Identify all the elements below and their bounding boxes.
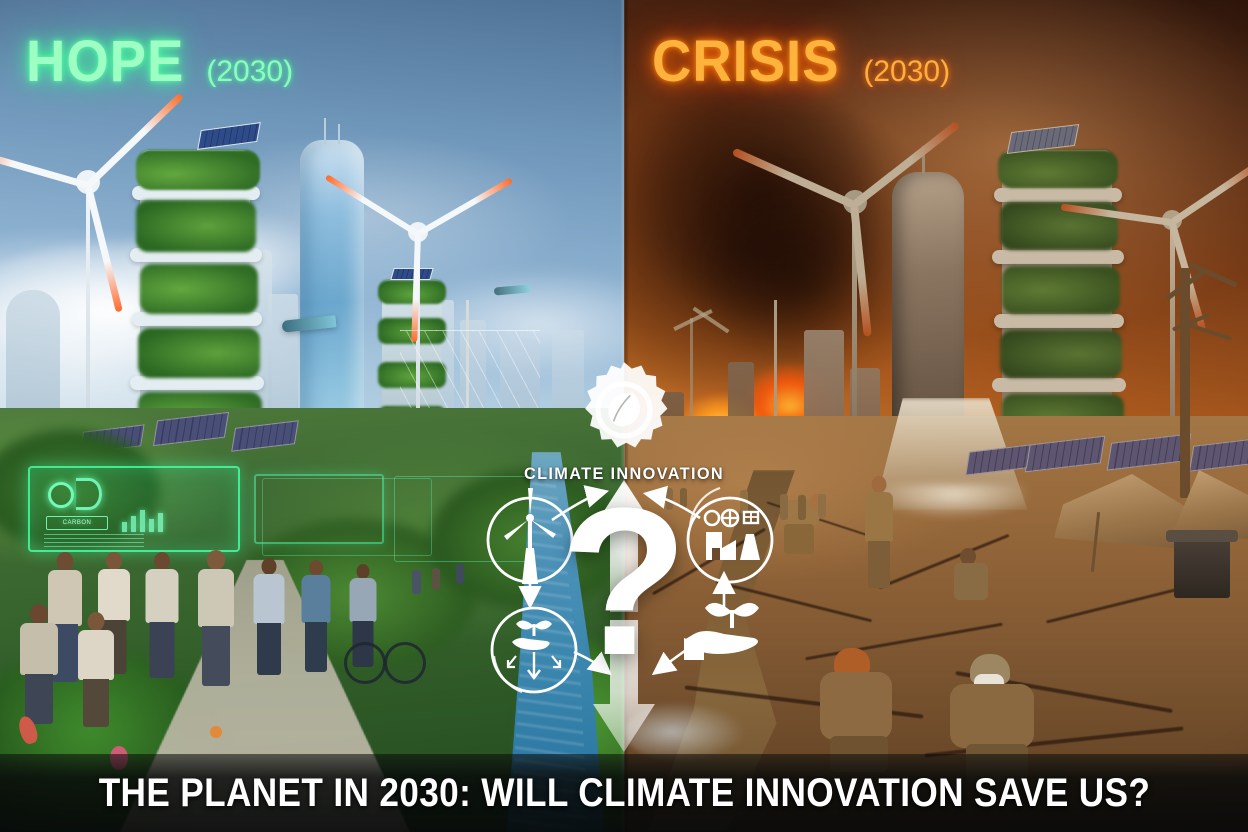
wind-turbine-mast — [86, 176, 90, 426]
hope-label-text: HOPE — [26, 28, 184, 95]
tower-balcony — [992, 378, 1126, 392]
dead-tree-trunk — [1180, 268, 1190, 498]
person — [76, 612, 116, 728]
antenna — [324, 118, 326, 144]
tower-balcony — [994, 314, 1124, 328]
holo-chip-label: CARBON — [46, 516, 108, 530]
person — [300, 560, 332, 672]
holo-bar-chart — [122, 508, 163, 532]
hope-label: HOPE (2030) — [26, 28, 293, 95]
flower — [210, 726, 222, 738]
poster-canvas: CARBON — [0, 0, 1248, 832]
person — [196, 550, 236, 686]
bicycle-wheel — [384, 642, 426, 684]
barrel-stove — [1174, 536, 1230, 598]
rooftop-greenery — [136, 150, 260, 190]
dying-greenery — [1000, 330, 1122, 378]
distant-person — [818, 494, 826, 518]
rooftop-solar-panel — [390, 268, 433, 280]
holo-ring-icon — [48, 482, 74, 508]
person — [252, 558, 286, 676]
person — [144, 552, 180, 678]
question-mark: ? — [560, 500, 688, 664]
hope-label-year: (2030) — [206, 55, 293, 89]
distant-person — [412, 570, 421, 594]
tower-greenery — [140, 264, 258, 314]
climate-innovation-badge[interactable]: CLIMATE INNOVATION — [444, 358, 804, 484]
person-sitting — [954, 548, 988, 600]
tower-greenery — [138, 328, 260, 378]
dying-rooftop-greenery — [998, 150, 1118, 188]
antenna — [338, 124, 340, 144]
distant-person — [798, 495, 806, 520]
tower-greenery — [136, 200, 256, 252]
distant-person — [780, 494, 788, 520]
distant-person — [740, 490, 748, 514]
holo-text-lines — [44, 534, 144, 548]
crisis-label: CRISIS (2030) — [652, 28, 950, 95]
tower-balcony — [132, 312, 262, 326]
bicycle-wheel — [344, 642, 386, 684]
stove-top — [1166, 530, 1238, 542]
crisis-label-year: (2030) — [863, 55, 950, 89]
distant-person — [432, 568, 440, 590]
crisis-label-text: CRISIS — [652, 28, 839, 95]
gear-leaf-icon — [444, 358, 804, 462]
holo-leaf-icon — [76, 478, 102, 510]
headline-text: THE PLANET IN 2030: WILL CLIMATE INNOVAT… — [98, 771, 1150, 816]
person-masked — [864, 476, 894, 588]
distant-person — [456, 564, 464, 584]
tower-balcony — [992, 250, 1124, 264]
dying-greenery — [1002, 266, 1120, 314]
holographic-display-panel[interactable]: CARBON — [28, 466, 240, 552]
puddle — [624, 702, 744, 762]
tower-balcony — [994, 188, 1122, 202]
headline-banner: THE PLANET IN 2030: WILL CLIMATE INNOVAT… — [0, 754, 1248, 832]
tower-balcony — [130, 376, 264, 390]
holographic-frame-4 — [394, 476, 544, 562]
waterfall-spray — [878, 484, 1028, 518]
badge-caption: CLIMATE INNOVATION — [451, 464, 797, 484]
person — [18, 604, 60, 724]
